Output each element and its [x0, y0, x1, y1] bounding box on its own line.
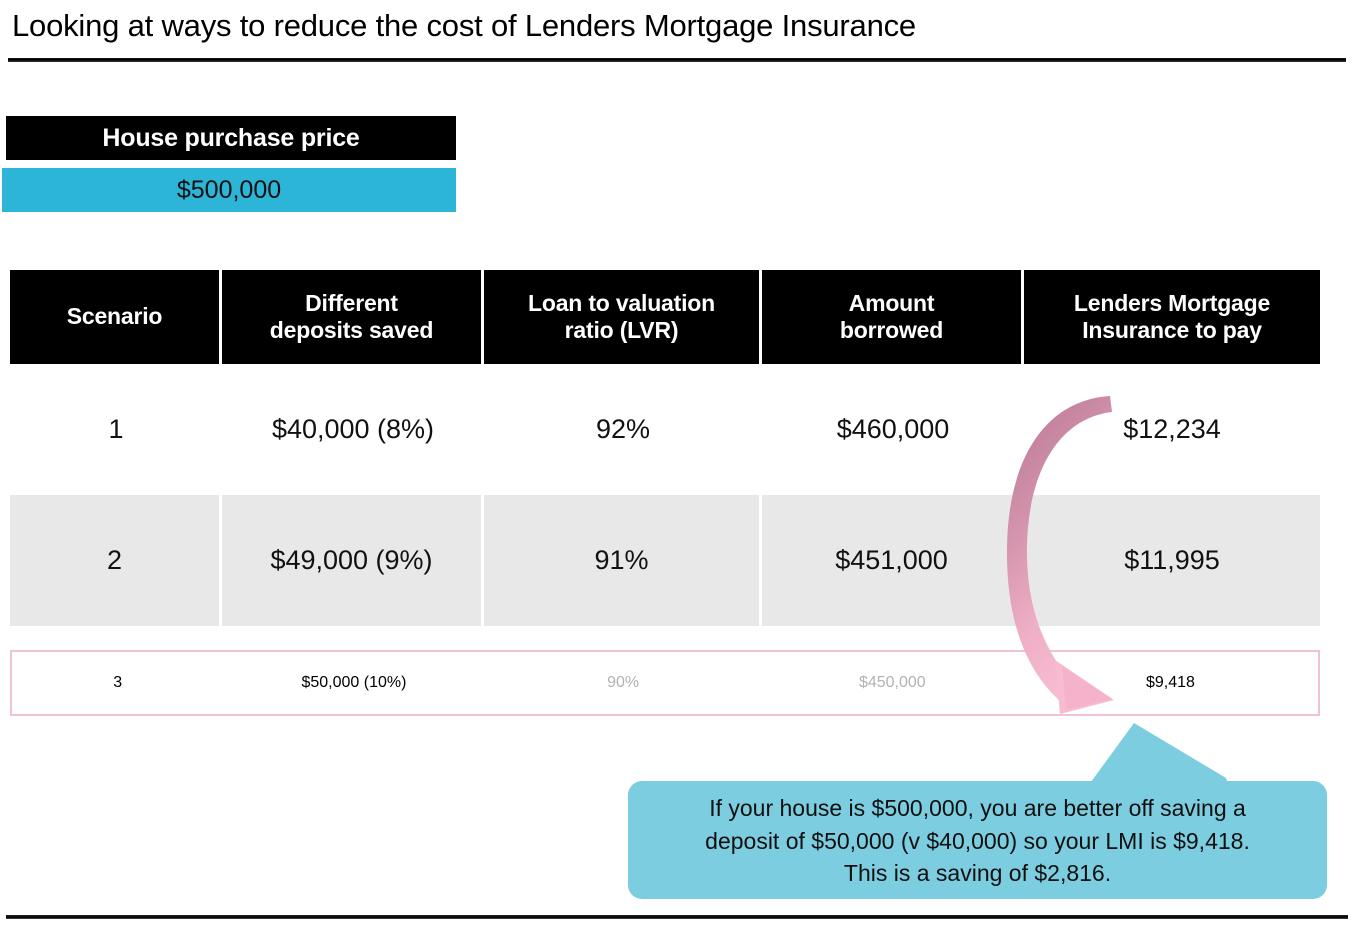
column-header-lmi-line1: Lenders Mortgage: [1074, 290, 1270, 317]
column-header-borrowed: Amount borrowed: [762, 270, 1024, 364]
bottom-divider: [6, 915, 1348, 919]
house-price-header: House purchase price: [6, 116, 456, 160]
title-section: Looking at ways to reduce the cost of Le…: [0, 0, 1354, 70]
cell-scenario: 1: [10, 364, 222, 495]
column-header-lvr: Loan to valuation ratio (LVR): [484, 270, 762, 364]
scenario-table: Scenario Different deposits saved Loan t…: [10, 270, 1320, 716]
cell-scenario: 3: [12, 652, 223, 714]
column-header-lvr-line1: Loan to valuation: [528, 290, 715, 317]
cell-scenario: 2: [10, 495, 222, 626]
column-header-deposits: Different deposits saved: [222, 270, 484, 364]
table-row: 1 $40,000 (8%) 92% $460,000 $12,234: [10, 364, 1320, 495]
callout-tail: [1030, 720, 1230, 790]
cell-borrowed: $450,000: [762, 652, 1023, 714]
cell-lvr: 92%: [484, 364, 762, 495]
column-header-lmi: Lenders Mortgage Insurance to pay: [1024, 270, 1320, 364]
cell-borrowed: $460,000: [762, 364, 1024, 495]
title-divider: [8, 58, 1346, 62]
cell-lvr: 90%: [485, 652, 762, 714]
column-header-borrowed-line2: borrowed: [840, 317, 943, 344]
row-spacer: [10, 626, 1320, 650]
page-title: Looking at ways to reduce the cost of Le…: [12, 8, 916, 44]
column-header-borrowed-line1: Amount: [840, 290, 943, 317]
callout-line-3: This is a saving of $2,816.: [654, 857, 1301, 890]
column-header-scenario: Scenario: [10, 270, 222, 364]
cell-lvr: 91%: [484, 495, 762, 626]
cell-lmi: $12,234: [1024, 364, 1320, 495]
column-header-deposits-line1: Different: [270, 290, 433, 317]
cell-deposit: $40,000 (8%): [222, 364, 484, 495]
house-price-value: $500,000: [2, 168, 456, 212]
table-row: 2 $49,000 (9%) 91% $451,000 $11,995: [10, 495, 1320, 626]
cell-borrowed: $451,000: [762, 495, 1024, 626]
table-header-row: Scenario Different deposits saved Loan t…: [10, 270, 1320, 364]
column-header-lmi-line2: Insurance to pay: [1074, 317, 1270, 344]
callout-line-2: deposit of $50,000 (v $40,000) so your L…: [654, 825, 1301, 858]
cell-deposit: $49,000 (9%): [222, 495, 484, 626]
column-header-lvr-line2: ratio (LVR): [528, 317, 715, 344]
column-header-deposits-line2: deposits saved: [270, 317, 433, 344]
cell-lmi: $11,995: [1024, 495, 1320, 626]
table-row-highlighted: 3 $50,000 (10%) 90% $450,000 $9,418: [10, 650, 1320, 716]
callout-box: If your house is $500,000, you are bette…: [628, 781, 1327, 899]
cell-lmi: $9,418: [1023, 652, 1318, 714]
cell-deposit: $50,000 (10%): [223, 652, 484, 714]
column-header-scenario-line1: Scenario: [67, 303, 163, 330]
callout-line-1: If your house is $500,000, you are bette…: [654, 792, 1301, 825]
